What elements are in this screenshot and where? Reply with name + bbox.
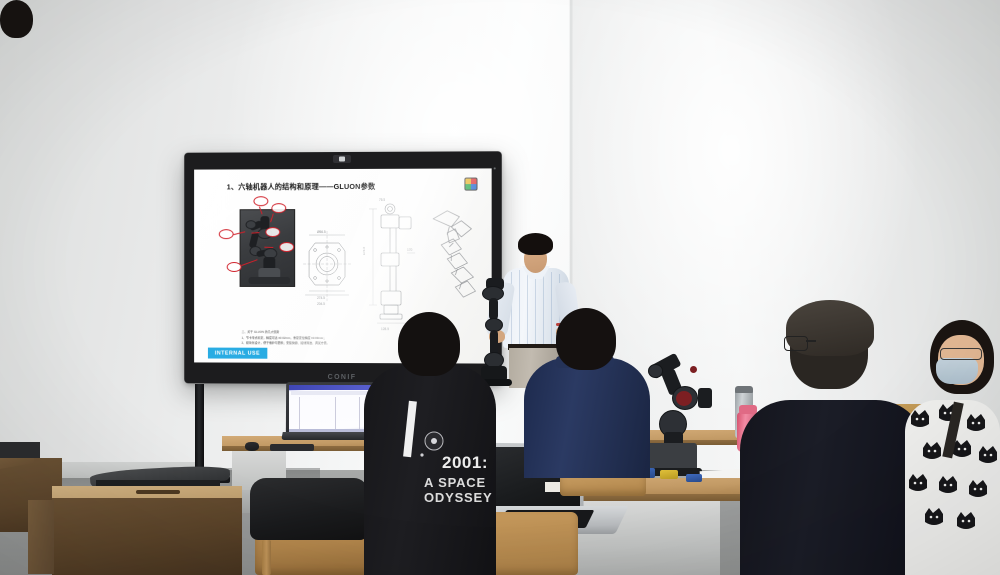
attendee-black-tee-shirt: 2001: A SPACE ODYSSEY <box>364 365 496 575</box>
presenter-head <box>0 0 33 38</box>
slide-title: 1、六轴机器人的结构和原理——GLUON参数 <box>227 182 376 192</box>
webcam-icon <box>333 155 351 163</box>
thermos-cap <box>735 386 753 393</box>
callout-j5 <box>271 203 286 213</box>
attendee-navy-polo-head <box>556 308 616 370</box>
cardboard-box-side-flap <box>28 500 54 574</box>
svg-text:Ø56.5: Ø56.5 <box>317 230 326 234</box>
keyboard[interactable] <box>270 444 314 451</box>
water-bottle-cap <box>739 405 757 414</box>
callout-j6 <box>253 196 268 206</box>
slide-body-text: 二、关于 GLUON 的几大优势 1、节卡零点标定，精度可达 ±0.02mm，重… <box>242 330 412 347</box>
tee-text-line1: 2001: <box>442 453 488 473</box>
attendee-navy-polo-shirt <box>524 358 650 478</box>
tee-monolith-graphic <box>388 399 444 473</box>
blue-part-2 <box>686 474 702 482</box>
attendee-glasses-shirt <box>740 400 926 575</box>
callout-j4 <box>265 227 280 237</box>
svg-text:170: 170 <box>407 248 413 252</box>
attendee-black-tee-head <box>398 312 460 376</box>
display-brand-label: CONIF <box>328 374 357 381</box>
face-mask <box>936 358 978 384</box>
internal-use-badge: INTERNAL USE <box>208 348 267 359</box>
svg-text:179.5: 179.5 <box>363 247 366 255</box>
yellow-part <box>660 470 678 479</box>
callout-j2 <box>227 262 242 272</box>
callout-j3 <box>279 242 294 252</box>
cad-front-elevation: 76.5 179.5 170 128.5 <box>363 193 421 333</box>
eyeglasses-icon <box>784 336 808 351</box>
chair-leg <box>262 540 271 575</box>
cad-top-view-flange: Ø56.5274.5204.5 <box>301 225 353 311</box>
box-handle-slot <box>136 490 180 494</box>
presenter-hair <box>518 233 553 255</box>
svg-text:274.5: 274.5 <box>317 296 325 300</box>
svg-text:204.5: 204.5 <box>317 302 325 306</box>
svg-text:76.5: 76.5 <box>379 198 385 202</box>
mouse[interactable] <box>245 442 259 451</box>
eyeglasses-icon-woman <box>940 348 982 360</box>
eyeglasses-temple <box>806 340 816 342</box>
classroom-scene-photo: 1、六轴机器人的结构和原理——GLUON参数 <box>0 0 1000 575</box>
robot-arm-held <box>478 278 524 386</box>
backpack <box>250 478 368 540</box>
status-led-icon <box>494 167 496 169</box>
tee-text-line2: A SPACE ODYSSEY <box>424 475 496 505</box>
presenter <box>0 0 33 38</box>
cardboard-box-front <box>52 492 242 575</box>
callout-j1 <box>219 229 234 239</box>
cad-isometric-view <box>421 203 483 316</box>
company-logo-icon <box>464 178 477 191</box>
black-equipment-left <box>0 442 40 458</box>
